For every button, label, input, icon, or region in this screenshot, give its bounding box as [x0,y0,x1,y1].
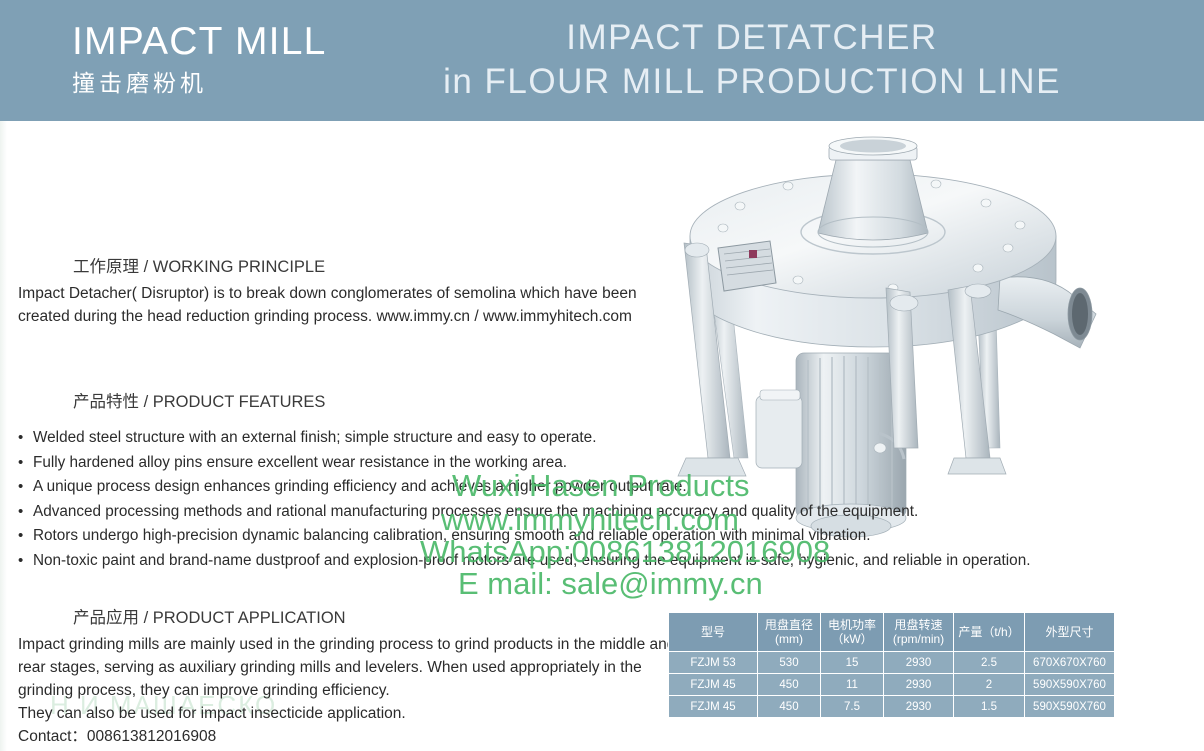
column-header-disc-speed: 甩盘转速 (rpm/min) [884,613,954,652]
table-row: FZJM 53 530 15 2930 2.5 670X670X760 [669,652,1115,674]
cell-capacity: 2.5 [954,652,1025,674]
header-banner: IMPACT MILL 撞击磨粉机 IMPACT DETATCHER in FL… [0,0,1204,121]
cell-motor-power: 15 [821,652,884,674]
cell-motor-power: 11 [821,674,884,696]
list-item: Rotors undergo high-precision dynamic ba… [18,524,1198,549]
cell-dimensions: 590X590X760 [1025,674,1115,696]
cell-motor-power: 7.5 [821,696,884,718]
cell-disc-diameter: 450 [758,674,821,696]
column-header-model: 型号 [669,613,758,652]
table-body: FZJM 53 530 15 2930 2.5 670X670X760 FZJM… [669,652,1115,718]
table-row: FZJM 45 450 11 2930 2 590X590X760 [669,674,1115,696]
banner-subtitle-line-1: IMPACT DETATCHER [300,16,1204,60]
banner-subtitle-line-2: in FLOUR MILL PRODUCTION LINE [300,60,1204,104]
cell-disc-speed: 2930 [884,652,954,674]
inlet-cone [818,137,928,247]
table-head: 型号 甩盘直径 (mm) 电机功率 （kW） 甩盘转速 (rpm/min) 产量… [669,613,1115,652]
cell-disc-speed: 2930 [884,696,954,718]
cell-disc-diameter: 530 [758,652,821,674]
list-item: Non-toxic paint and brand-name dustproof… [18,549,1198,574]
header-line-1: 外型尺寸 [1025,625,1114,639]
header-line-2: (rpm/min) [884,632,953,646]
header-line-1: 电机功率 [821,618,883,632]
column-header-capacity: 产量（t/h） [954,613,1025,652]
product-application-extra: They can also be used for impact insecti… [18,702,678,725]
table-row: FZJM 45 450 7.5 2930 1.5 590X590X760 [669,696,1115,718]
product-application-section: 产品应用 / PRODUCT APPLICATION Impact grindi… [18,606,678,748]
contact-info: Contact：008613812016908 [18,725,678,748]
cell-capacity: 1.5 [954,696,1025,718]
product-application-heading: 产品应用 / PRODUCT APPLICATION [73,606,678,630]
list-item: A unique process design enhances grindin… [18,475,1198,500]
specification-table: 型号 甩盘直径 (mm) 电机功率 （kW） 甩盘转速 (rpm/min) 产量… [668,612,1115,718]
cell-dimensions: 590X590X760 [1025,696,1115,718]
product-features-section: 产品特性 / PRODUCT FEATURES Welded steel str… [18,390,1198,573]
list-item: Welded steel structure with an external … [18,426,1198,451]
nameplate [718,241,776,291]
cell-model: FZJM 45 [669,674,758,696]
working-principle-heading: 工作原理 / WORKING PRINCIPLE [73,255,668,279]
column-header-motor-power: 电机功率 （kW） [821,613,884,652]
cell-dimensions: 670X670X760 [1025,652,1115,674]
header-line-2: (mm) [758,632,820,646]
working-principle-section: 工作原理 / WORKING PRINCIPLE Impact Detacher… [18,255,668,328]
list-item: Fully hardened alloy pins ensure excelle… [18,451,1198,476]
product-features-list: Welded steel structure with an external … [18,426,1198,573]
product-features-heading: 产品特性 / PRODUCT FEATURES [73,390,1198,414]
table-header-row: 型号 甩盘直径 (mm) 电机功率 （kW） 甩盘转速 (rpm/min) 产量… [669,613,1115,652]
list-item: Advanced processing methods and rational… [18,500,1198,525]
header-line-1: 产量（t/h） [954,625,1024,639]
cell-capacity: 2 [954,674,1025,696]
banner-subtitle-block: IMPACT DETATCHER in FLOUR MILL PRODUCTIO… [0,16,1204,104]
catalog-page: IMPACT MILL 撞击磨粉机 IMPACT DETATCHER in FL… [0,0,1204,751]
header-line-1: 甩盘直径 [758,618,820,632]
product-application-body: Impact grinding mills are mainly used in… [18,633,678,702]
outlet-pipe [998,277,1096,348]
working-principle-body: Impact Detacher( Disruptor) is to break … [18,282,668,328]
left-edge-strip [0,121,7,751]
header-line-2: （kW） [821,632,883,646]
header-line-1: 甩盘转速 [884,618,953,632]
cell-disc-speed: 2930 [884,674,954,696]
cell-disc-diameter: 450 [758,696,821,718]
cell-model: FZJM 53 [669,652,758,674]
column-header-disc-diameter: 甩盘直径 (mm) [758,613,821,652]
column-header-dimensions: 外型尺寸 [1025,613,1115,652]
header-line-1: 型号 [669,625,757,639]
cell-model: FZJM 45 [669,696,758,718]
